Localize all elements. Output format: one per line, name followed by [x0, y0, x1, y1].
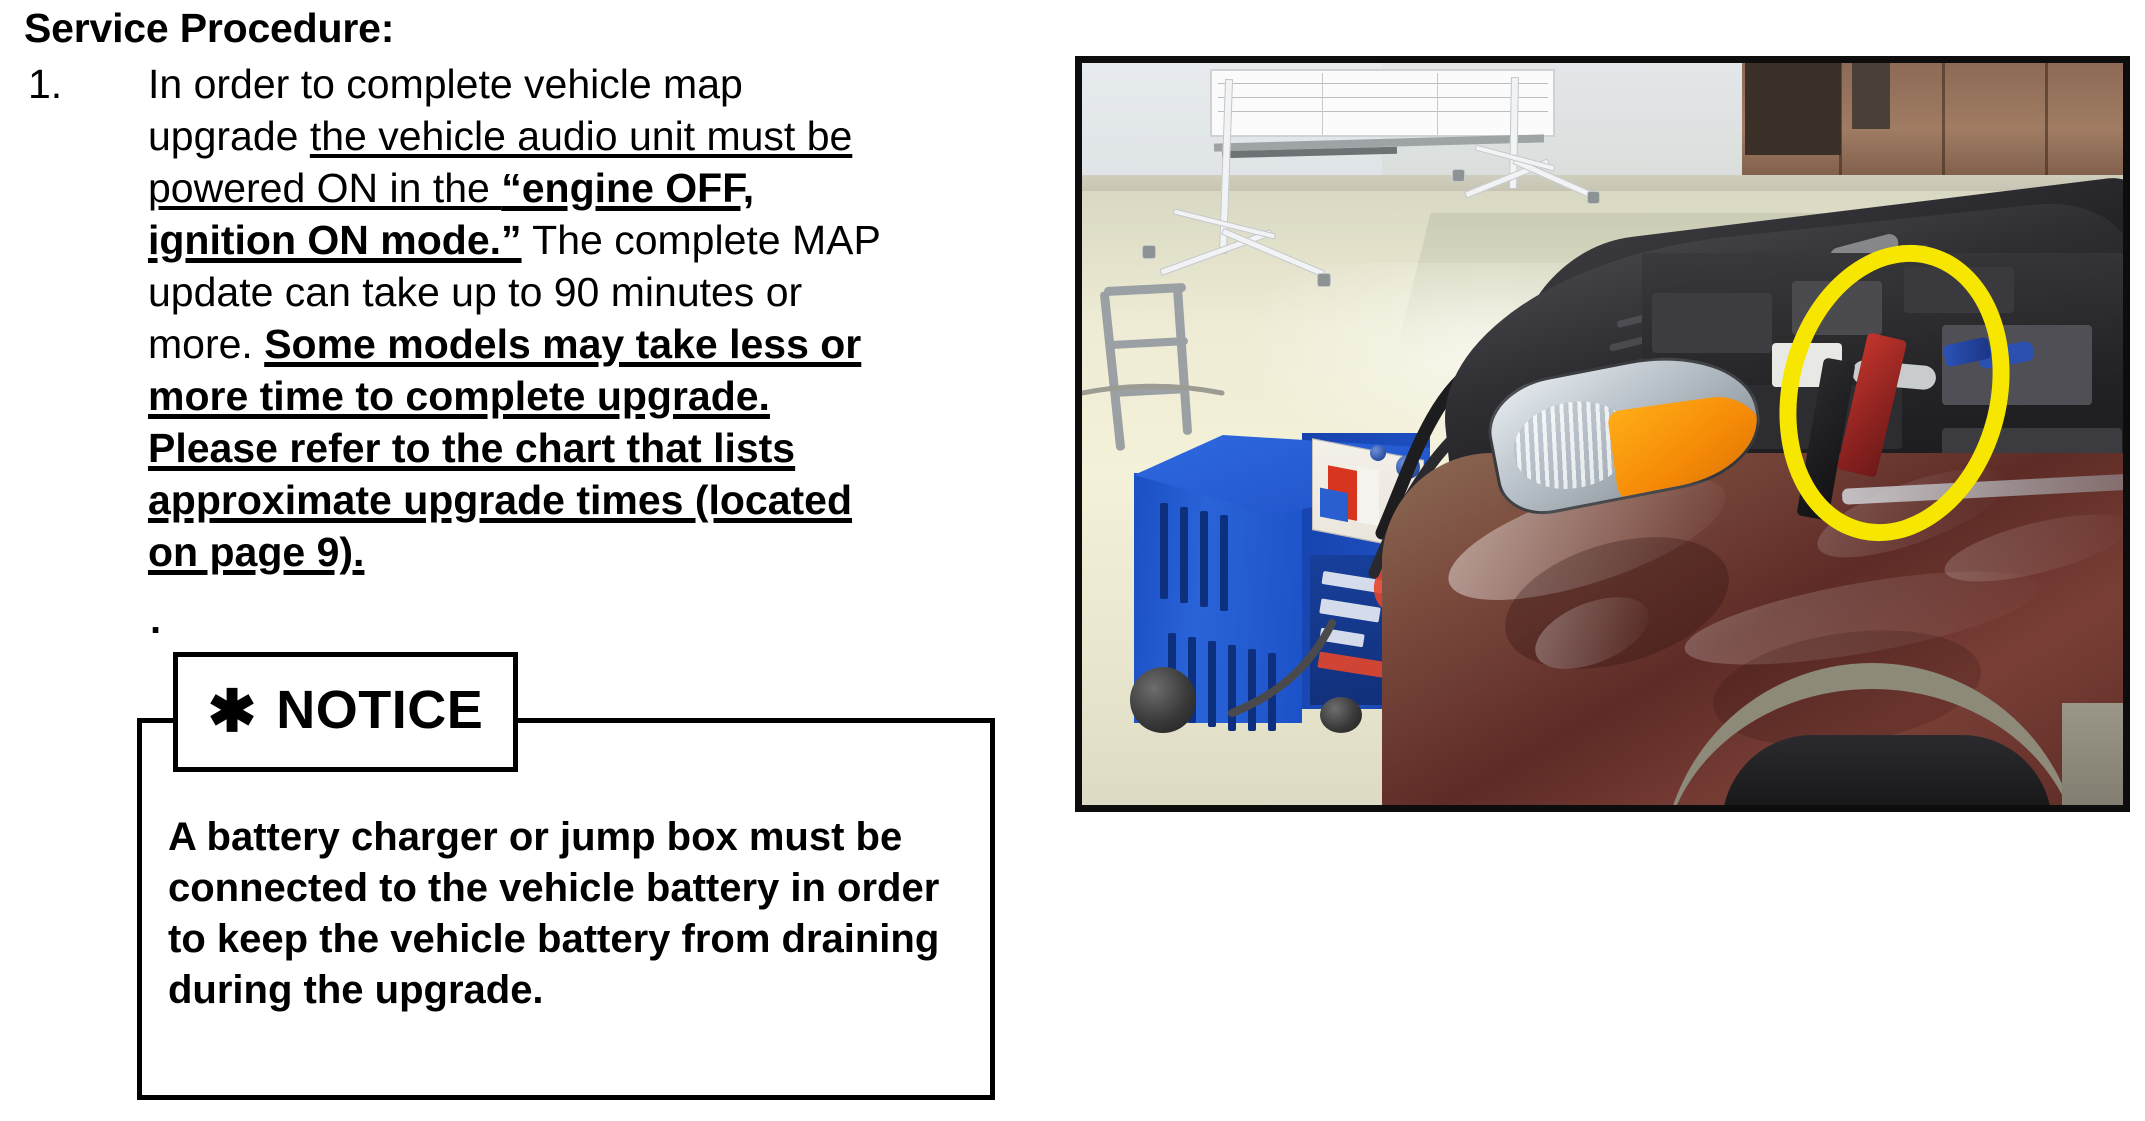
step-number: 1.: [28, 58, 62, 110]
stray-punctuation-mark: .: [150, 600, 161, 640]
asterisk-star-icon: ✱: [208, 683, 257, 741]
page-title: Service Procedure:: [24, 4, 394, 53]
notice-title: NOTICE: [276, 681, 483, 739]
service-procedure-step-list: 1. In order to complete vehicle map upgr…: [0, 58, 1050, 578]
notice-body-text: A battery charger or jump box must be co…: [168, 812, 958, 1016]
text-column: Service Procedure: 1. In order to comple…: [0, 0, 1050, 1121]
notice-header-box: ✱ NOTICE: [173, 652, 518, 772]
front-tire: [1722, 735, 2052, 805]
step-text: In order to complete vehicle map upgrade…: [148, 58, 888, 578]
list-item: 1. In order to complete vehicle map upgr…: [0, 58, 1050, 578]
photo-scene: [1082, 63, 2123, 805]
notice-callout: ✱ NOTICE A battery charger or jump box m…: [137, 652, 1003, 1107]
vehicle-photo: [1075, 56, 2130, 812]
rocker-panel: [2062, 703, 2123, 805]
